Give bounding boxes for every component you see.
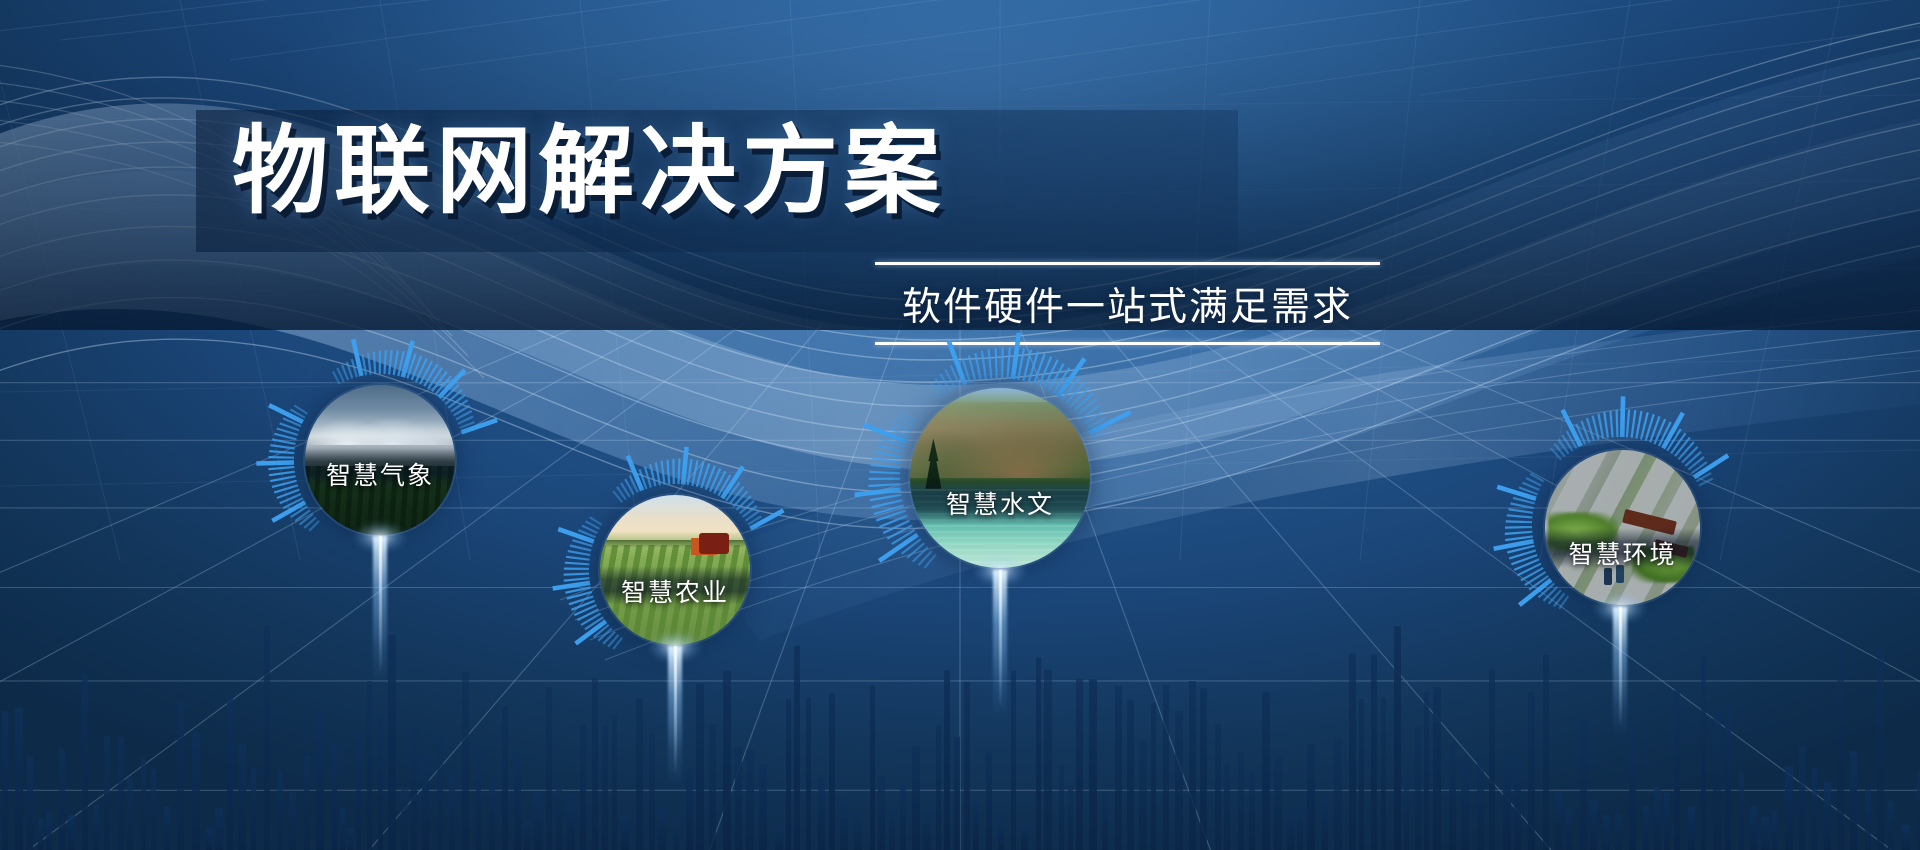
node-photo-disc-environment[interactable]: 智慧环境 (1545, 450, 1700, 605)
light-beam-core (1619, 607, 1622, 727)
solution-node-agriculture[interactable]: 智慧农业 (545, 440, 805, 700)
node-label-environment: 智慧环境 (1545, 535, 1700, 571)
light-beam-core (999, 570, 1002, 708)
node-label-hydrology: 智慧水文 (910, 485, 1090, 521)
node-label-agriculture: 智慧农业 (600, 573, 750, 609)
solution-node-hydrology[interactable]: 智慧水文 (850, 328, 1150, 628)
light-beam-core (379, 536, 382, 674)
page-title: 物联网解决方案 (232, 118, 1192, 226)
node-photo-disc-weather[interactable]: 智慧气象 (305, 385, 455, 535)
solution-node-environment[interactable]: 智慧环境 (1490, 395, 1750, 655)
node-photo-disc-agriculture[interactable]: 智慧农业 (600, 495, 750, 645)
iot-solution-banner: 物联网解决方案 软件硬件一站式满足需求 智慧气象 智慧农业 (0, 0, 1920, 850)
node-photo-disc-hydrology[interactable]: 智慧水文 (910, 388, 1090, 568)
light-beam-core (674, 646, 677, 775)
solution-node-weather[interactable]: 智慧气象 (250, 330, 510, 590)
node-label-weather: 智慧气象 (305, 456, 455, 492)
